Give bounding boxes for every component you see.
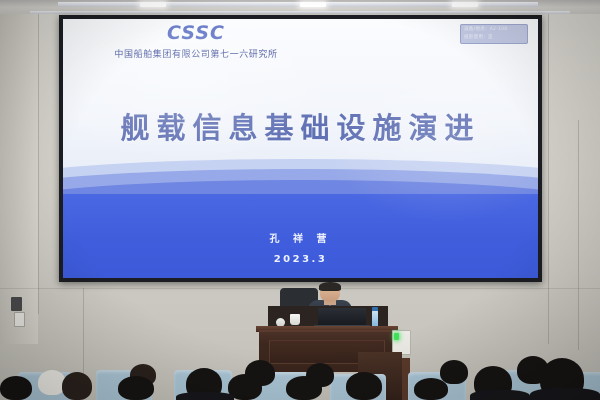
ceiling-lamp: [300, 2, 326, 7]
info-chip-line-1: 设备/地点：A2-108: [464, 26, 524, 34]
audience-shoulders: [470, 390, 530, 400]
audience-shoulders: [176, 392, 234, 400]
wall-socket[interactable]: [14, 312, 25, 327]
wall-seam: [578, 120, 579, 350]
wall-panel-left: [0, 14, 38, 344]
status-led-icon: [394, 333, 399, 340]
cup-icon: [290, 314, 300, 325]
ceiling-lamp: [452, 2, 478, 7]
slide-date: 2023.3: [63, 254, 538, 265]
ceiling-lamp: [140, 2, 166, 7]
audience-head: [0, 376, 32, 400]
audience-head: [346, 372, 382, 400]
slide-info-chip: 设备/地点：A2-108 投影使用：是: [460, 24, 528, 44]
wall-seam: [548, 14, 549, 344]
audience-head: [414, 378, 448, 400]
lecture-hall-scene: CSSC 中国船舶集团有限公司第七一六研究所 设备/地点：A2-108 投影使用…: [0, 0, 600, 400]
audience-shoulders: [530, 388, 600, 400]
water-bottle-icon: [372, 310, 378, 327]
water-bottle-cap: [372, 307, 378, 311]
audience-head: [440, 360, 468, 384]
projected-slide: CSSC 中国船舶集团有限公司第七一六研究所 设备/地点：A2-108 投影使用…: [63, 19, 538, 278]
audience-head: [286, 376, 322, 400]
brand-block: CSSC 中国船舶集团有限公司第七一六研究所: [81, 24, 311, 60]
info-chip-line-2: 投影使用：是: [464, 34, 524, 42]
audience-head: [118, 376, 154, 400]
audience-head: [62, 372, 92, 400]
cssc-logo: CSSC: [81, 24, 311, 44]
wall-seam: [38, 14, 39, 314]
wall-seam: [83, 288, 84, 383]
slide-speaker-name: 孔 祥 营: [63, 230, 538, 245]
presenter-glasses: [322, 290, 339, 295]
brand-subtitle: 中国船舶集团有限公司第七一六研究所: [81, 47, 311, 60]
slide-title: 舰载信息基础设施演进: [63, 105, 538, 147]
wall-sign: [11, 297, 22, 311]
